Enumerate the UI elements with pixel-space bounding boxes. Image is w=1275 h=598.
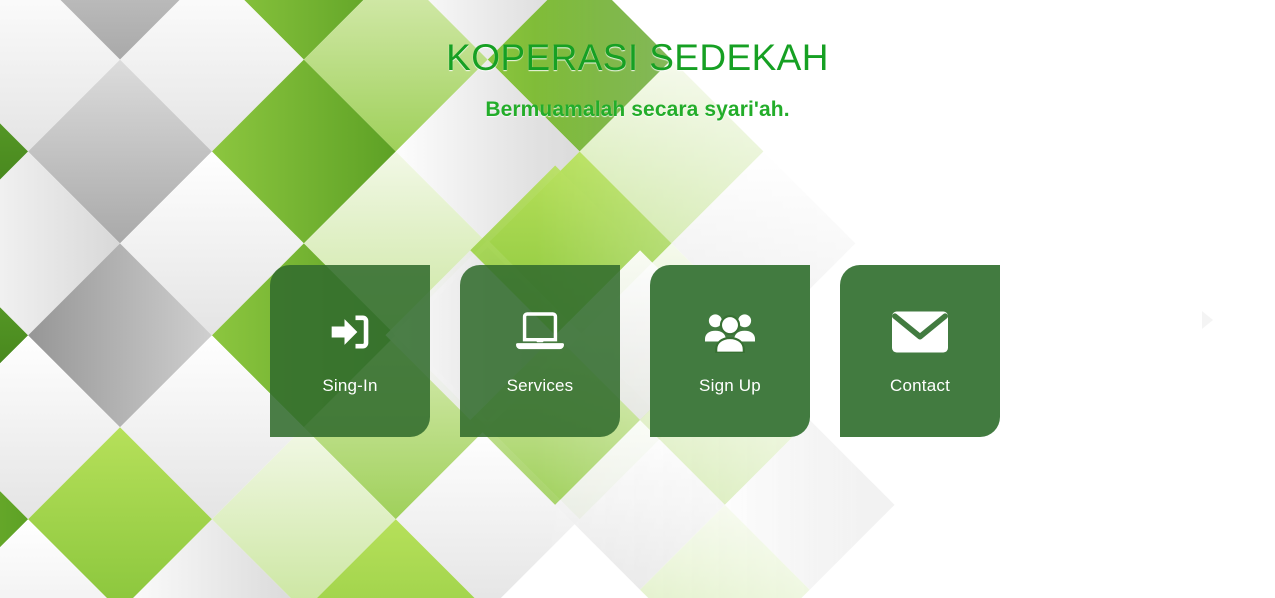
card-label: Services	[507, 377, 574, 394]
card-contact[interactable]: Contact	[840, 265, 1000, 437]
envelope-icon	[892, 309, 948, 355]
card-label: Sing-In	[322, 377, 377, 394]
card-label: Contact	[890, 377, 950, 394]
users-icon	[705, 309, 755, 355]
card-label: Sign Up	[699, 377, 761, 394]
chevron-right-icon	[1199, 310, 1215, 330]
card-services[interactable]: Services	[460, 265, 620, 437]
hero-banner: KOPERASI SEDEKAH Bermuamalah secara syar…	[0, 0, 1275, 598]
sign-in-icon	[328, 309, 372, 355]
quick-links-card-row: Sing-In Services	[270, 265, 1000, 437]
card-sign-up[interactable]: Sign Up	[650, 265, 810, 437]
card-sing-in[interactable]: Sing-In	[270, 265, 430, 437]
carousel-next-button[interactable]	[1192, 305, 1222, 335]
laptop-icon	[516, 309, 564, 355]
